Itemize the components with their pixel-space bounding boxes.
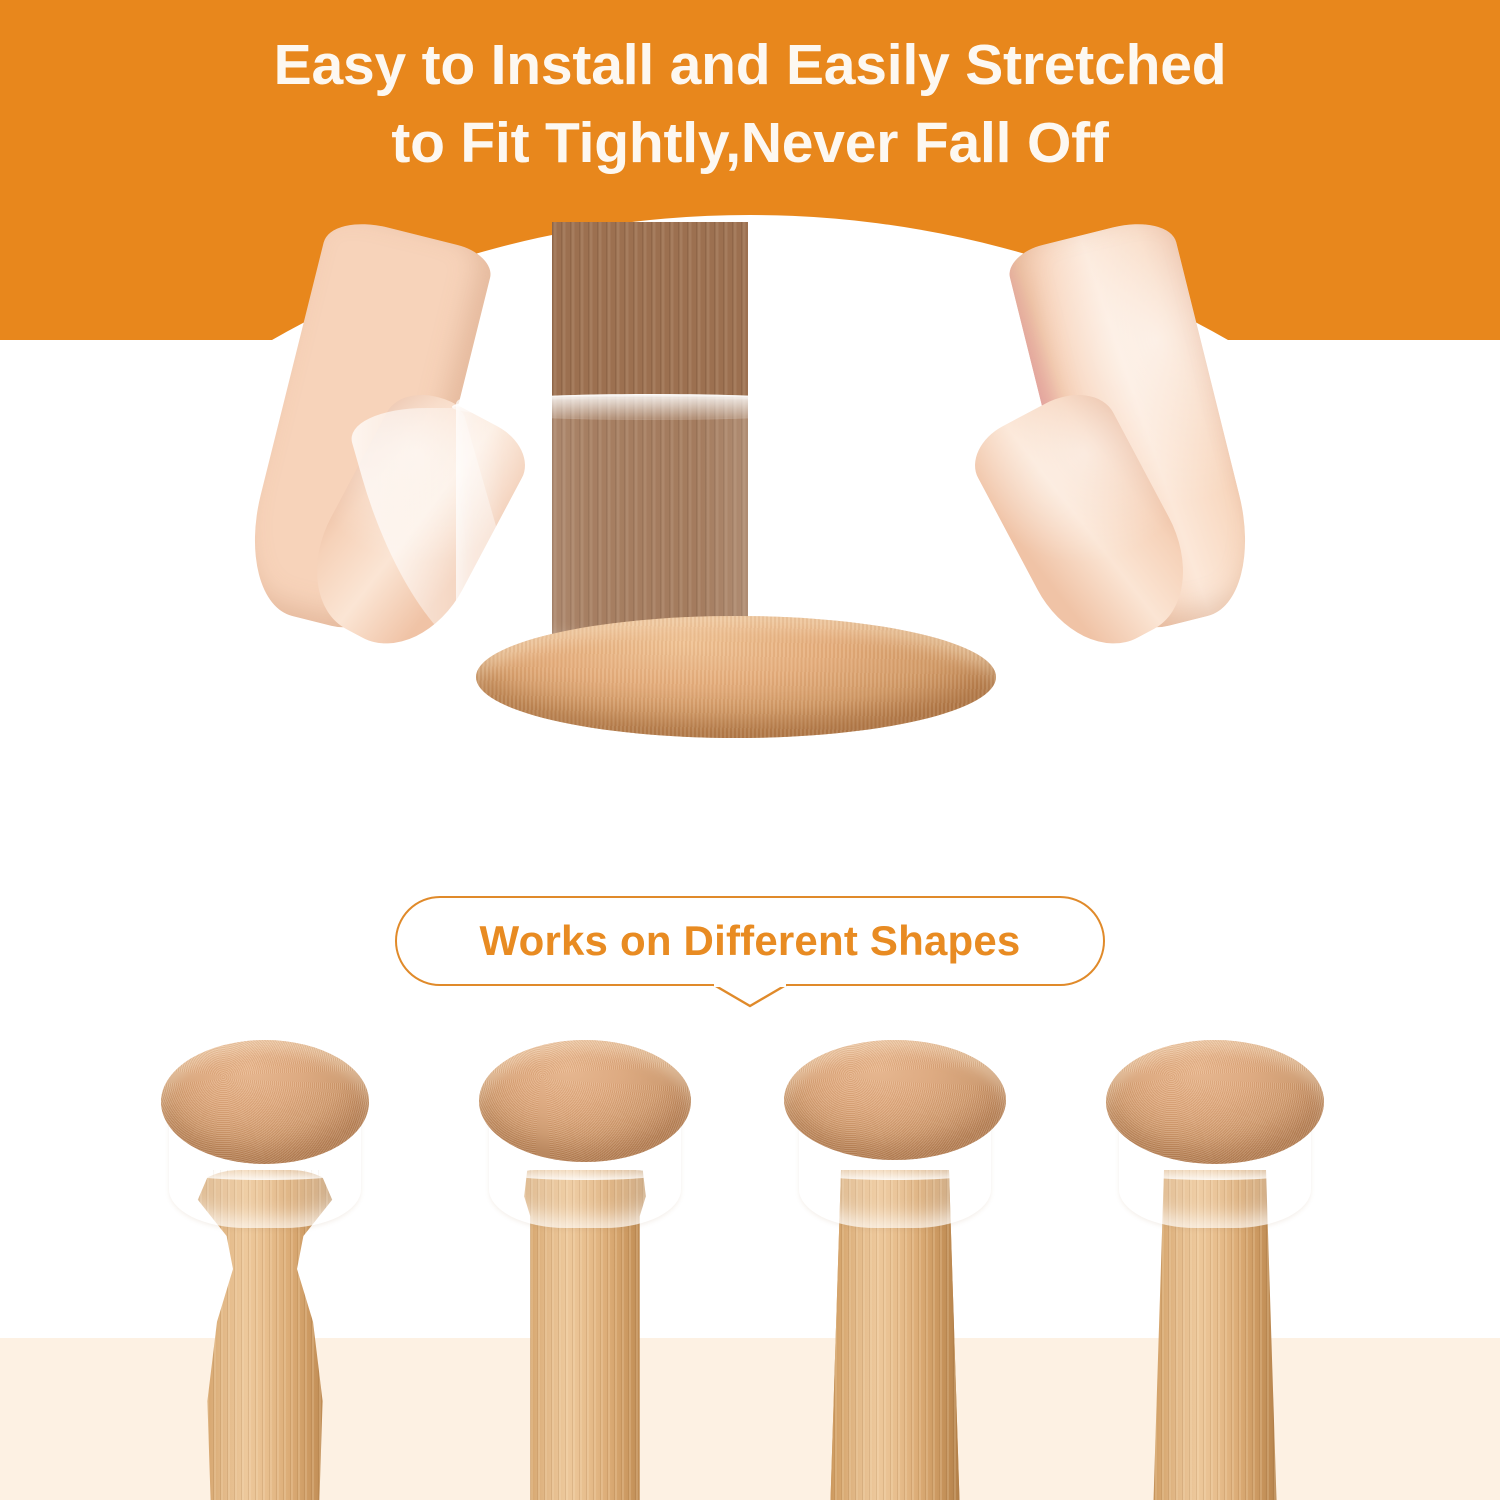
leg-sample-round	[420, 1040, 750, 1500]
leg-sample-tapered	[1050, 1040, 1380, 1500]
works-on-different-shapes-badge: Works on Different Shapes	[395, 896, 1105, 986]
felt-pad-top	[1106, 1040, 1324, 1164]
page-title: Easy to Install and Easily Stretched to …	[0, 26, 1500, 182]
cap-rim	[452, 394, 850, 420]
shapes-row	[0, 1040, 1500, 1500]
leg-sample-square	[730, 1040, 1060, 1500]
shapes-badge-group: Works on Different Shapes	[0, 896, 1500, 1016]
badge-label: Works on Different Shapes	[480, 917, 1021, 965]
leg-sample-curved	[100, 1040, 430, 1500]
felt-pad-top	[479, 1040, 691, 1162]
felt-pad-top	[161, 1040, 369, 1164]
badge-tail-icon	[712, 984, 788, 1008]
felt-floor-pad	[476, 616, 996, 738]
main-product-photo	[250, 228, 1250, 788]
product-marketing-image: Easy to Install and Easily Stretched to …	[0, 0, 1500, 1500]
felt-pad-top	[784, 1040, 1006, 1160]
